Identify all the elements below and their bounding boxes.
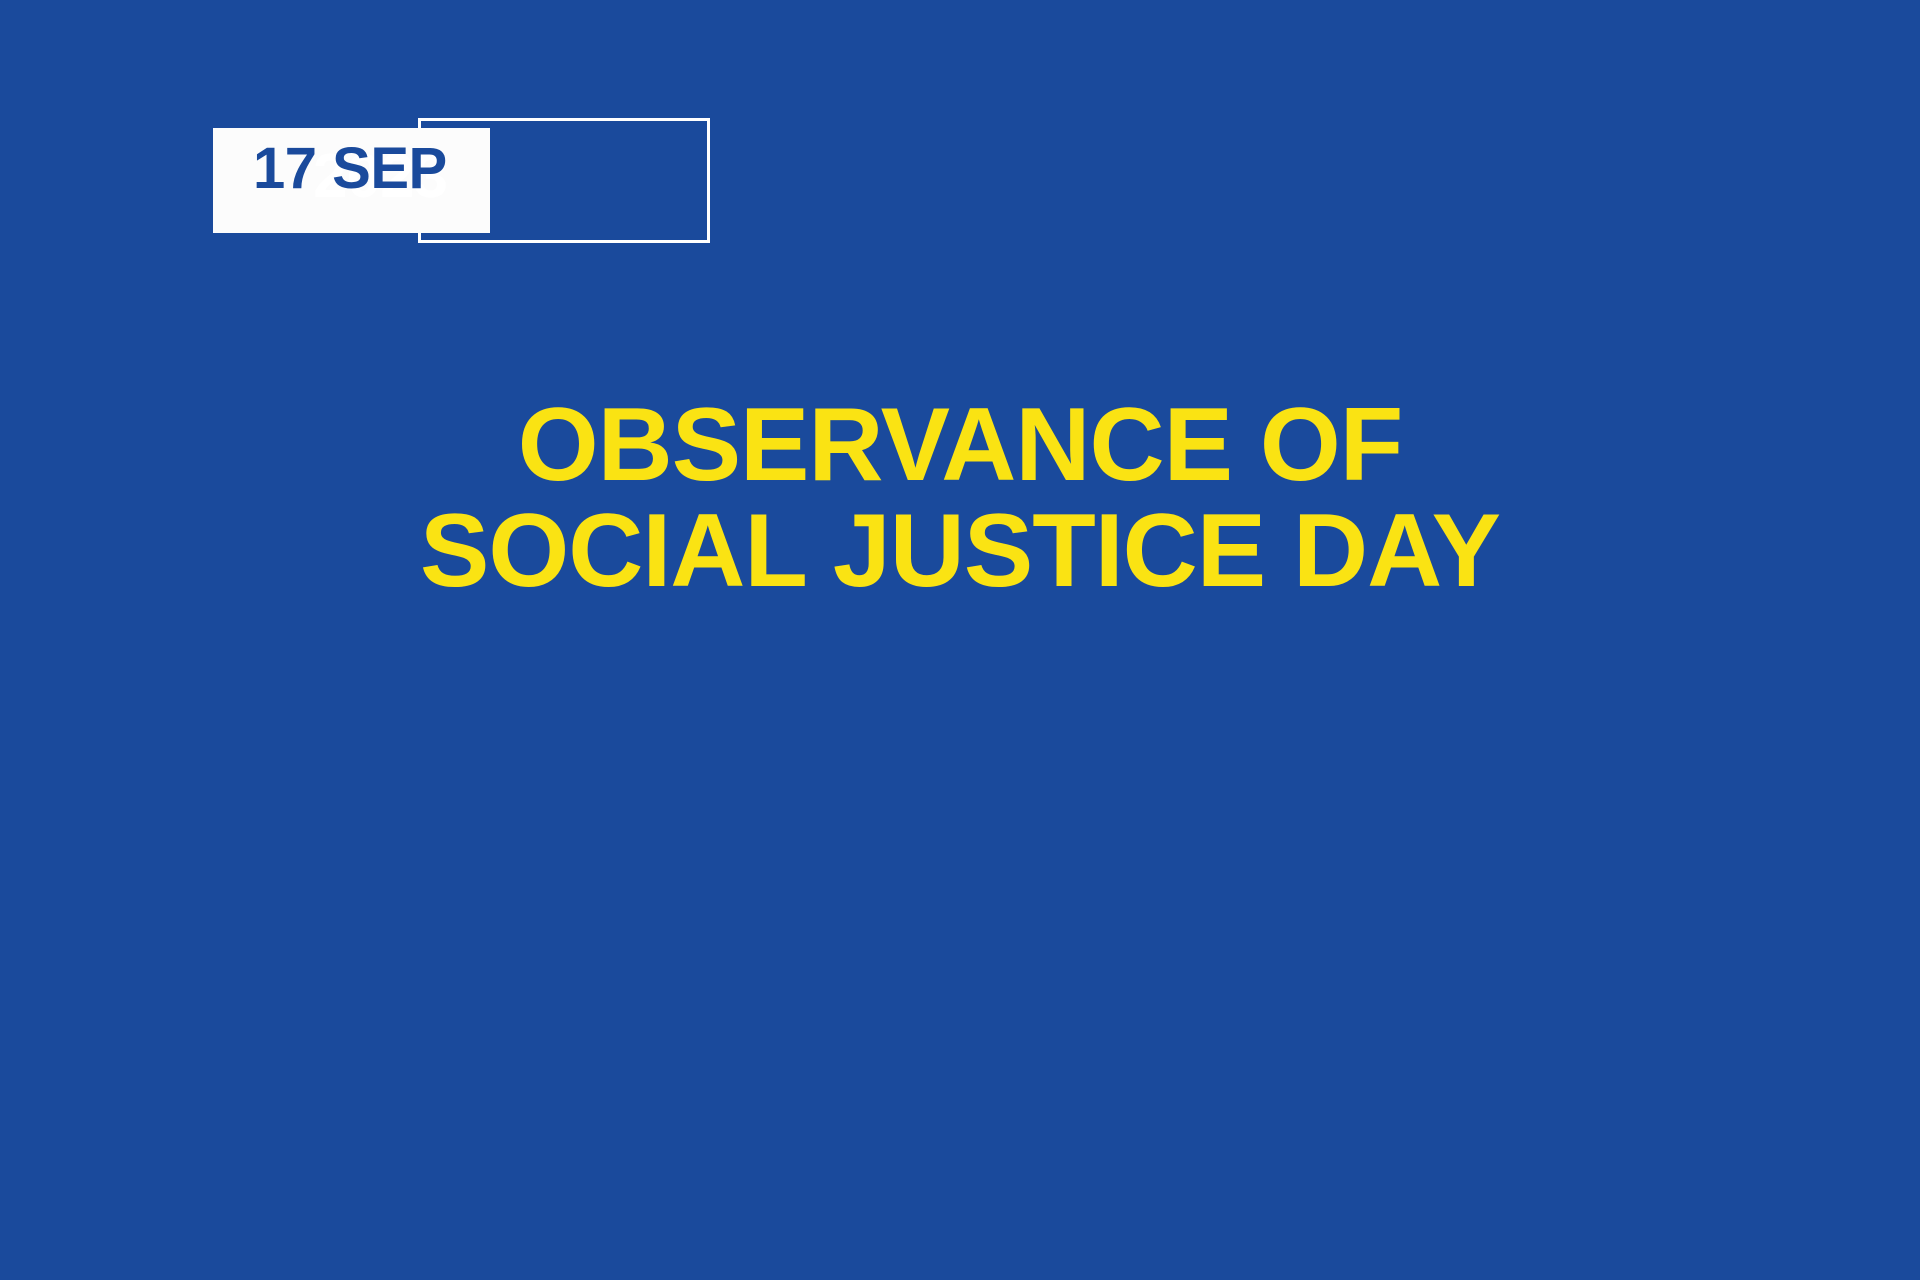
page-title: OBSERVANCE OF SOCIAL JUSTICE DAY [0, 392, 1920, 604]
date-badge-day-month: 17 SEP [253, 140, 447, 198]
page-title-line-1: OBSERVANCE OF [0, 392, 1920, 498]
poster-canvas: 2023 17 SEP OBSERVANCE OF SOCIAL JUSTICE… [0, 0, 1920, 1280]
date-badge: 2023 17 SEP [213, 118, 813, 298]
page-title-line-2: SOCIAL JUSTICE DAY [0, 498, 1920, 604]
